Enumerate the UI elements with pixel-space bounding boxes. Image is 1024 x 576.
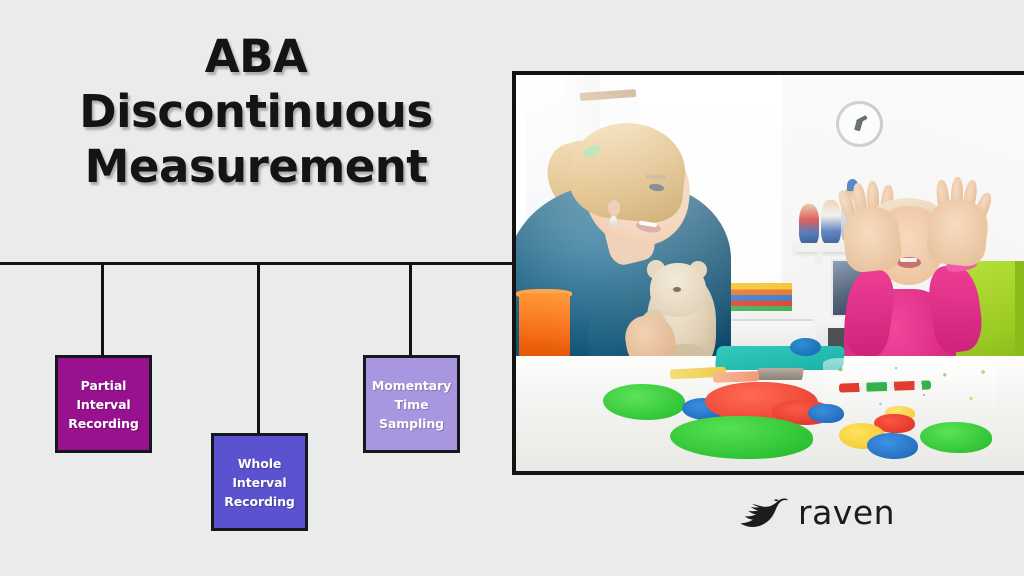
node-3-line-1: Momentary xyxy=(372,376,451,395)
green-dough-3 xyxy=(920,422,992,454)
raven-bird-icon xyxy=(736,492,788,532)
therapy-session-photo xyxy=(512,71,1024,475)
node-1-line-1: Partial xyxy=(81,376,127,395)
node-1-line-2: Interval xyxy=(76,395,130,414)
therapist-ear xyxy=(608,200,620,216)
node-whole-interval-recording[interactable]: Whole Interval Recording xyxy=(211,433,308,531)
node-3-line-2: Time xyxy=(395,395,429,414)
shelf-doll-2 xyxy=(821,200,840,245)
grey-block xyxy=(756,368,804,380)
node-3-line-3: Sampling xyxy=(379,414,444,433)
child-teeth xyxy=(900,258,917,262)
page-title: ABA Discontinuous Measurement xyxy=(0,34,512,190)
node-2-line-3: Recording xyxy=(224,492,294,511)
title-line-2: Discontinuous xyxy=(0,89,512,135)
pencil-cup xyxy=(519,293,570,364)
title-line-3: Measurement xyxy=(0,144,512,190)
slide-canvas: ABA Discontinuous Measurement Partial In… xyxy=(0,0,1024,576)
node-momentary-time-sampling[interactable]: Momentary Time Sampling xyxy=(363,355,460,453)
therapist-earring xyxy=(610,216,617,229)
green-dough-1 xyxy=(603,384,685,420)
peach-dough-strip xyxy=(713,371,759,382)
child-hand-right xyxy=(925,197,990,268)
blue-dough-ball xyxy=(790,338,821,356)
connector-drop-3 xyxy=(409,262,412,357)
storage-trays xyxy=(723,283,792,321)
node-partial-interval-recording[interactable]: Partial Interval Recording xyxy=(55,355,152,453)
logo-wordmark: raven xyxy=(798,496,895,529)
photo-scene xyxy=(516,75,1024,471)
connector-drop-2 xyxy=(257,262,260,435)
connector-drop-1 xyxy=(101,262,104,357)
raven-logo: raven xyxy=(736,492,895,532)
title-line-1: ABA xyxy=(0,34,512,80)
node-2-line-1: Whole xyxy=(238,454,282,473)
node-1-line-3: Recording xyxy=(68,414,138,433)
shelf-doll-1 xyxy=(799,204,819,246)
node-2-line-2: Interval xyxy=(232,473,286,492)
